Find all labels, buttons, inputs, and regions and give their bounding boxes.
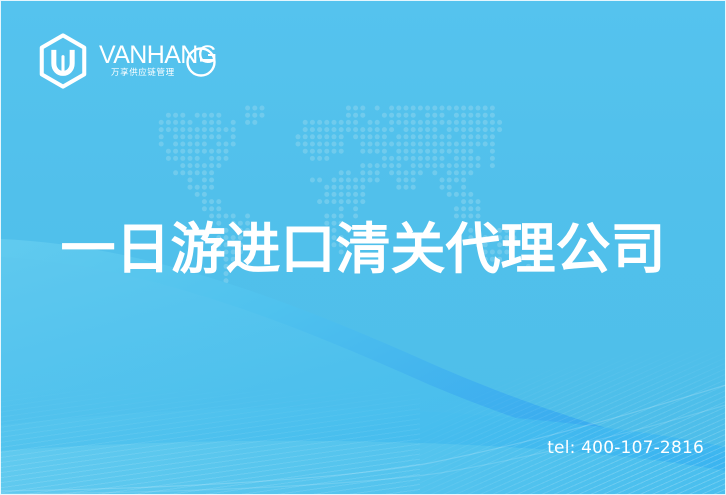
vanhang-hexagon-u-mark-icon bbox=[36, 33, 90, 89]
page-title: 一日游进口清关代理公司 bbox=[60, 222, 665, 277]
company-logo[interactable]: VANHANG 万享供应链管理 bbox=[36, 33, 217, 89]
promotional-banner: VANHANG 万享供应链管理 一日游进口清关代理公司 tel: 400-107… bbox=[0, 0, 726, 495]
logo-wordmark: VANHANG 万享供应链管理 bbox=[99, 38, 217, 84]
logo-wordmark-text: VANHANG bbox=[99, 41, 217, 69]
contact-telephone[interactable]: tel: 400-107-2816 bbox=[547, 438, 704, 458]
logo-chinese-subtitle: 万享供应链管理 bbox=[111, 67, 175, 78]
